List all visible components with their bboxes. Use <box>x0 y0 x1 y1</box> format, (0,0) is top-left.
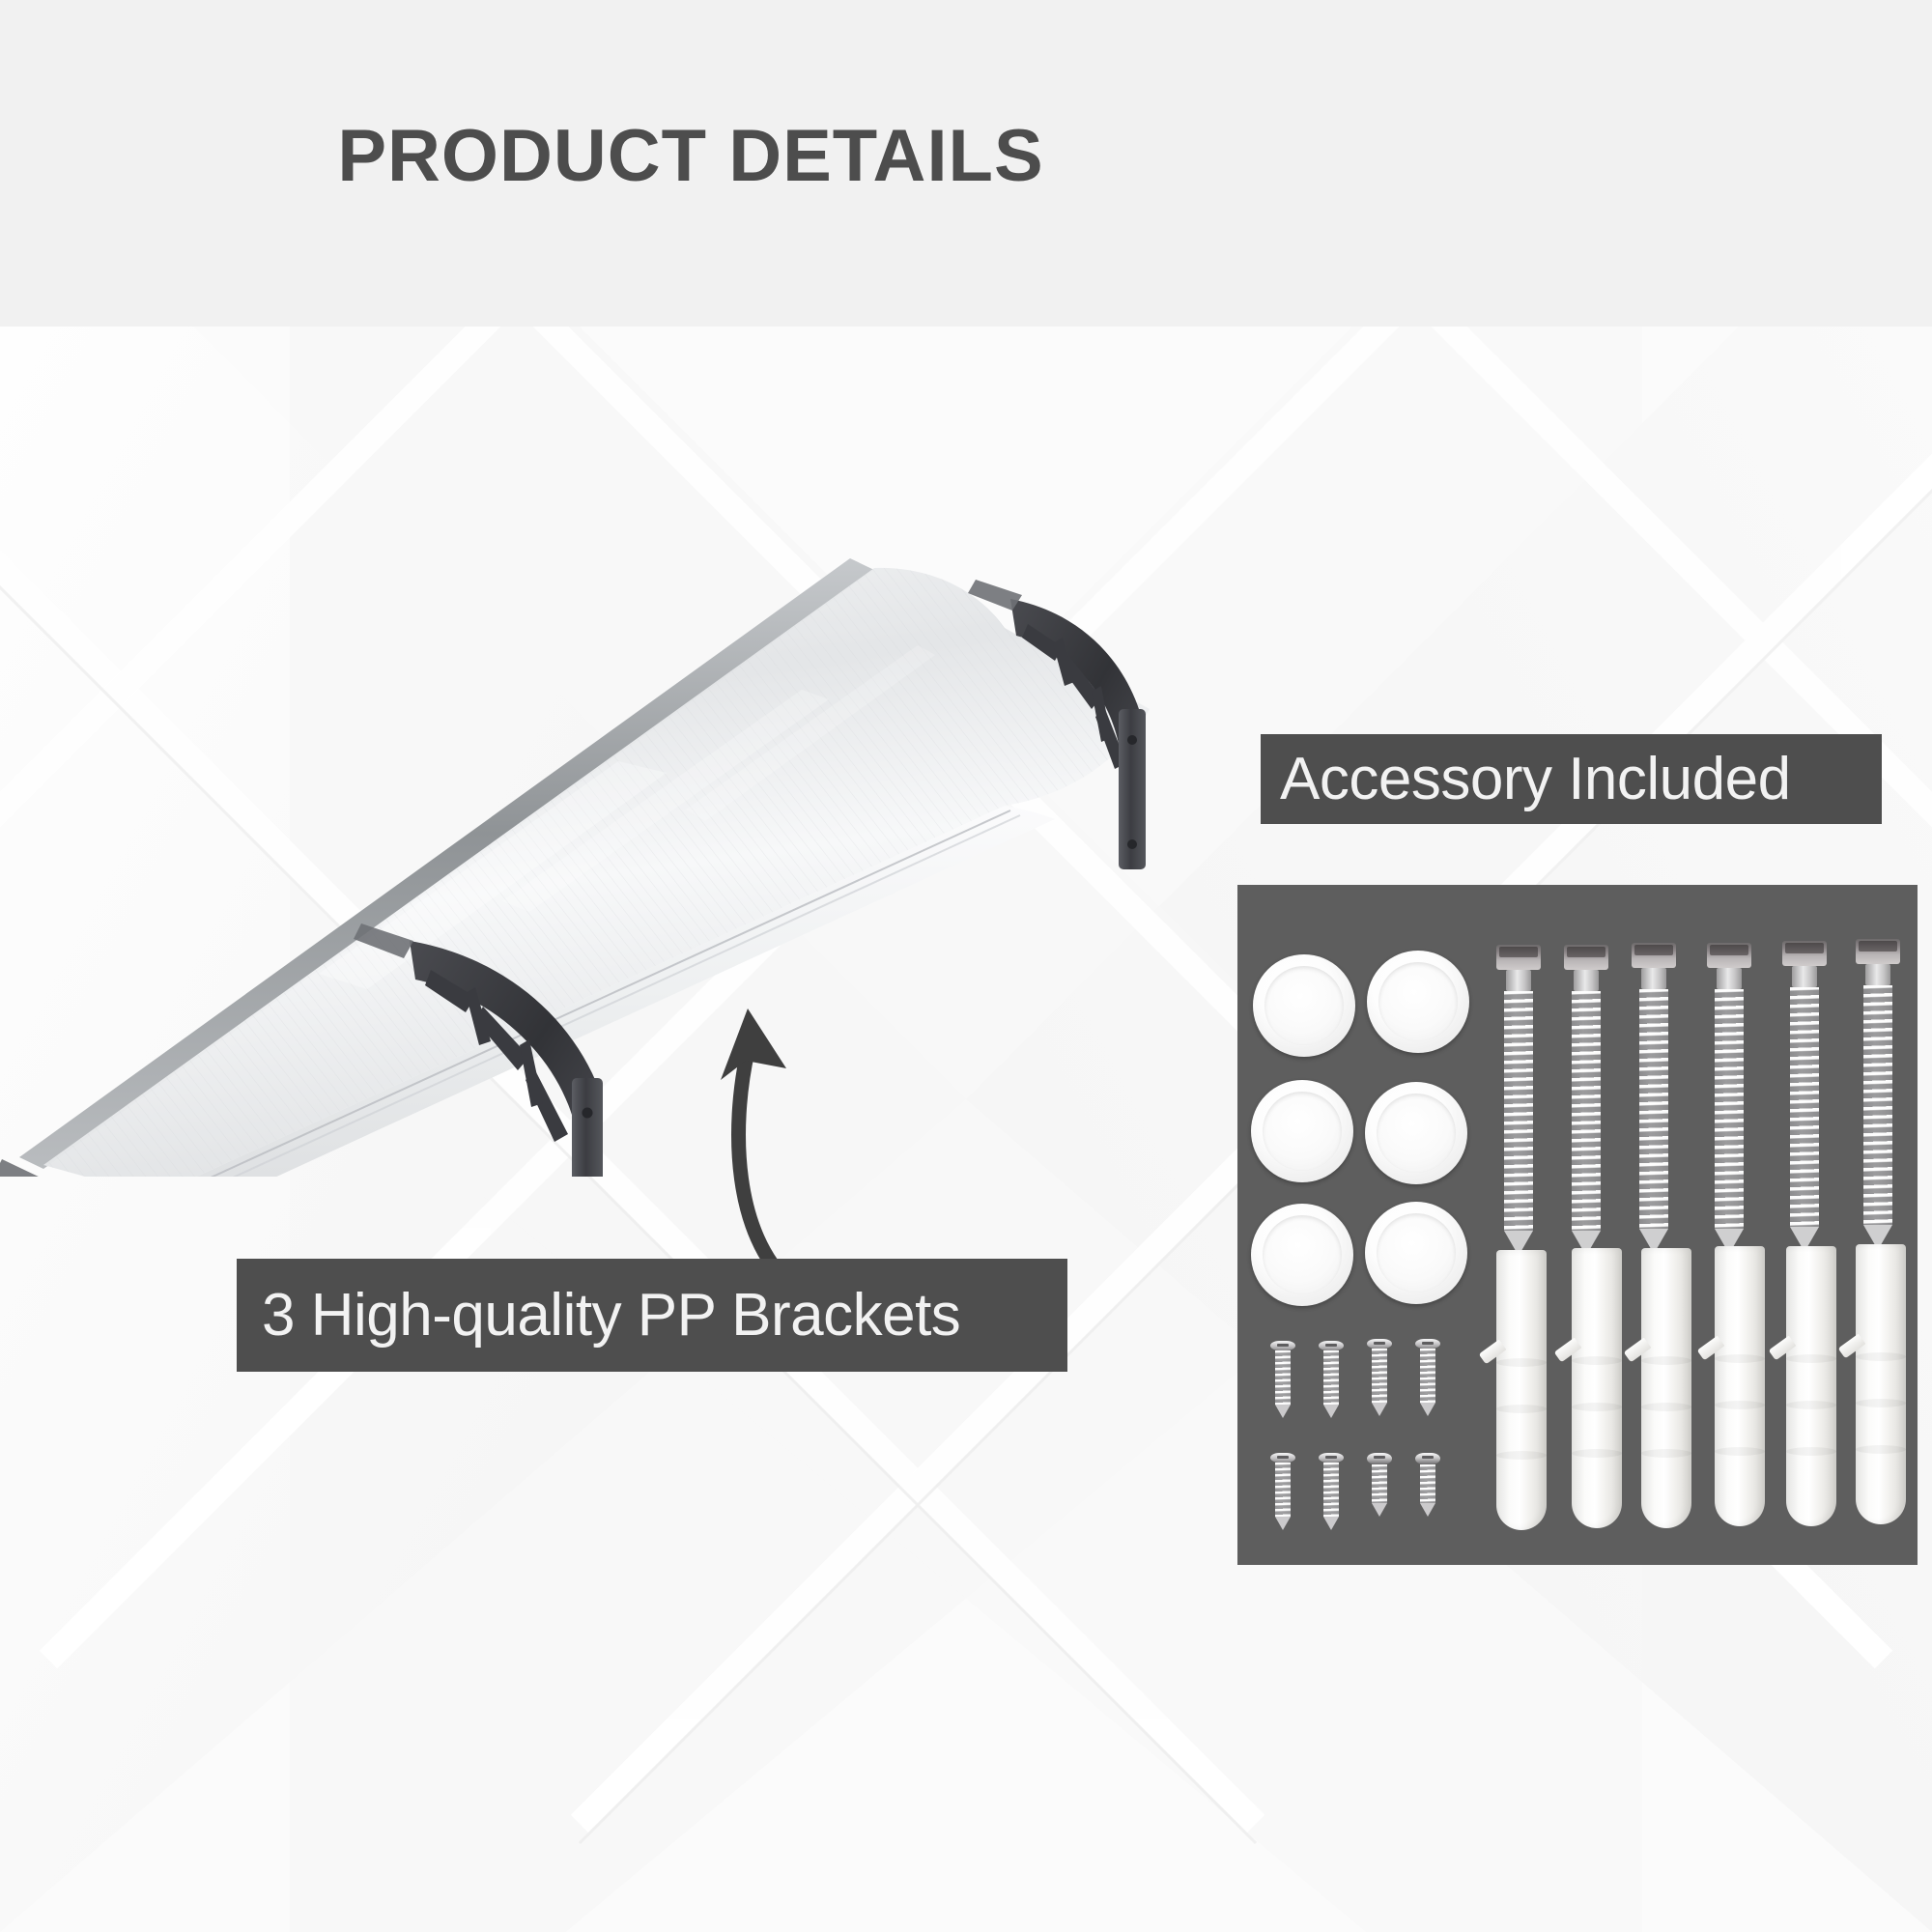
self-drilling-screw-icon <box>1415 1453 1440 1517</box>
callout-arrow <box>667 945 956 1297</box>
brackets-caption-banner: 3 High-quality PP Brackets <box>237 1259 1067 1372</box>
flat-head-screw-icon <box>1270 1453 1295 1530</box>
header-band: PRODUCT DETAILS <box>0 0 1932 327</box>
cover-cap-icon <box>1365 1082 1467 1184</box>
flat-head-screw-icon <box>1319 1341 1344 1418</box>
cover-cap-icon <box>1251 1204 1353 1306</box>
brackets-caption-label: 3 High-quality PP Brackets <box>262 1281 960 1350</box>
bracket-middle-wall-plate <box>572 1078 603 1177</box>
accessory-included-banner: Accessory Included <box>1261 734 1882 824</box>
content-stage: Accessory Included 3 High-quality PP Bra… <box>0 327 1932 1932</box>
wall-anchor-icon <box>1786 1246 1836 1526</box>
wall-anchor-icon <box>1572 1248 1622 1528</box>
cover-cap-icon <box>1365 1202 1467 1304</box>
flat-head-screw-icon <box>1319 1453 1344 1530</box>
arrow-head <box>721 1009 786 1080</box>
accessory-kit-panel <box>1237 885 1918 1565</box>
flat-head-screw-icon <box>1270 1341 1295 1418</box>
lag-screw-icon <box>1632 943 1676 1254</box>
cover-cap-icon <box>1367 951 1469 1053</box>
curved-arrow-svg <box>667 945 956 1293</box>
lag-screw-icon <box>1782 941 1827 1252</box>
lag-screw-icon <box>1707 943 1751 1254</box>
product-detail-page: PRODUCT DETAILS <box>0 0 1932 1932</box>
lag-screw-icon <box>1496 945 1541 1256</box>
lag-screw-icon <box>1564 945 1608 1256</box>
wall-anchor-icon <box>1715 1246 1765 1526</box>
cover-cap-icon <box>1253 954 1355 1057</box>
accessory-included-label: Accessory Included <box>1280 745 1791 813</box>
wall-anchor-icon <box>1496 1250 1547 1530</box>
wall-anchor-icon <box>1856 1244 1906 1524</box>
lag-screw-icon <box>1856 939 1900 1250</box>
flat-head-screw-icon <box>1415 1339 1440 1416</box>
cover-cap-icon <box>1251 1080 1353 1182</box>
page-title: PRODUCT DETAILS <box>0 114 1381 198</box>
product-image-awning <box>0 520 1188 1177</box>
self-drilling-screw-icon <box>1367 1453 1392 1517</box>
awning-illustration-svg <box>0 520 1188 1177</box>
flat-head-screw-icon <box>1367 1339 1392 1416</box>
wall-anchor-icon <box>1641 1248 1691 1528</box>
